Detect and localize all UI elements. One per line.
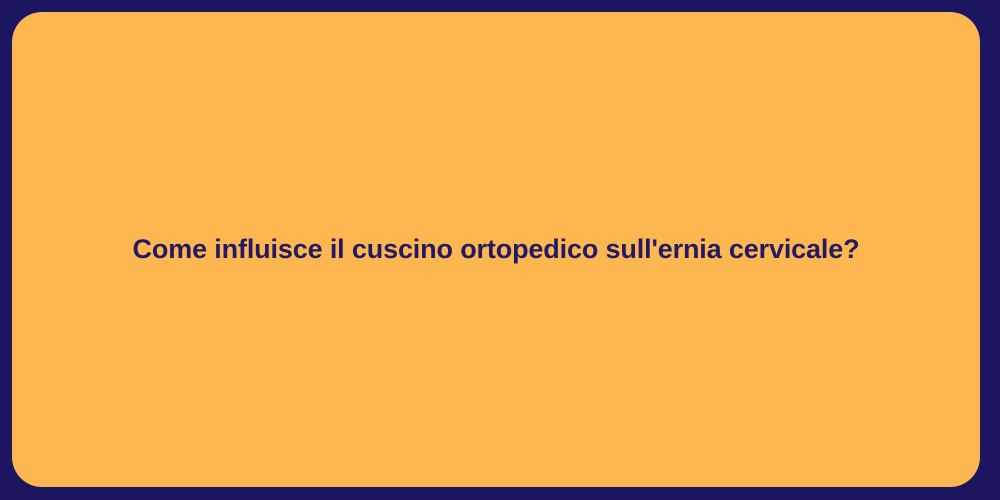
- card-content-area: Come influisce il cuscino ortopedico sul…: [12, 232, 980, 267]
- question-card: Come influisce il cuscino ortopedico sul…: [12, 12, 980, 487]
- page-frame: Come influisce il cuscino ortopedico sul…: [0, 0, 1000, 500]
- question-heading: Come influisce il cuscino ortopedico sul…: [133, 232, 860, 267]
